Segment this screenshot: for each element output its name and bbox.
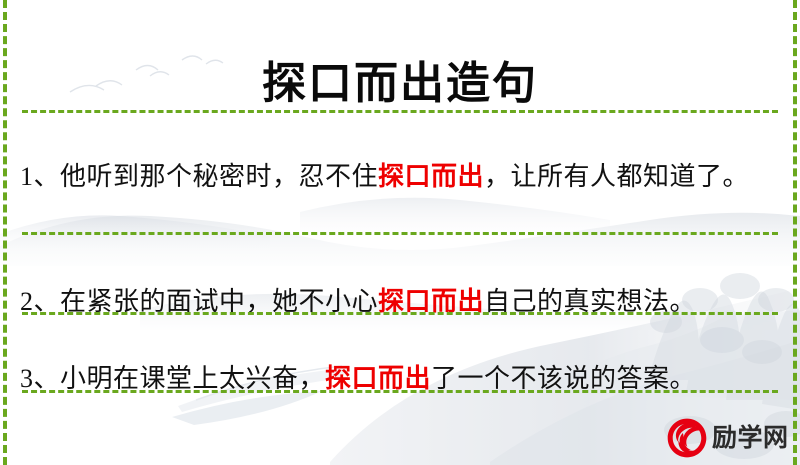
sentence-3-text-after: 了一个不该说的答案。 <box>431 364 696 393</box>
divider-top <box>22 110 778 113</box>
page-title: 探口而出造句 <box>0 55 800 113</box>
right-dashed-border <box>793 0 797 465</box>
sentence-1-idiom: 探口而出 <box>378 162 484 191</box>
sentence-item-2: 2、在紧张的面试中，她不小心探口而出自己的真实想法。 <box>20 281 772 323</box>
sentence-3-idiom: 探口而出 <box>325 364 431 393</box>
content-area: 探口而出造句 1、他听到那个秘密时，忍不住探口而出，让所有人都知道了。 2、在紧… <box>0 0 800 465</box>
divider-between-2-and-3 <box>22 312 778 315</box>
divider-between-1-and-2 <box>22 232 778 235</box>
sentence-1-text-after: ，让所有人都知道了。 <box>484 162 749 191</box>
site-logo[interactable]: 励学网 <box>666 414 794 462</box>
sentence-3-text-before: 小明在课堂上太兴奋， <box>60 364 325 393</box>
site-logo-text: 励学网 <box>712 424 789 452</box>
left-dashed-border <box>3 0 7 465</box>
poster-page: 探口而出造句 1、他听到那个秘密时，忍不住探口而出，让所有人都知道了。 2、在紧… <box>0 0 800 465</box>
sentence-3-number: 3、 <box>20 364 60 393</box>
divider-bottom <box>22 390 778 393</box>
sentence-item-1: 1、他听到那个秘密时，忍不住探口而出，让所有人都知道了。 <box>20 156 772 198</box>
sentence-item-3: 3、小明在课堂上太兴奋，探口而出了一个不该说的答案。 <box>20 358 772 400</box>
red-swirl-flame-icon <box>666 417 708 459</box>
sentence-1-text-before: 他听到那个秘密时，忍不住 <box>60 162 378 191</box>
sentence-1-number: 1、 <box>20 162 60 191</box>
